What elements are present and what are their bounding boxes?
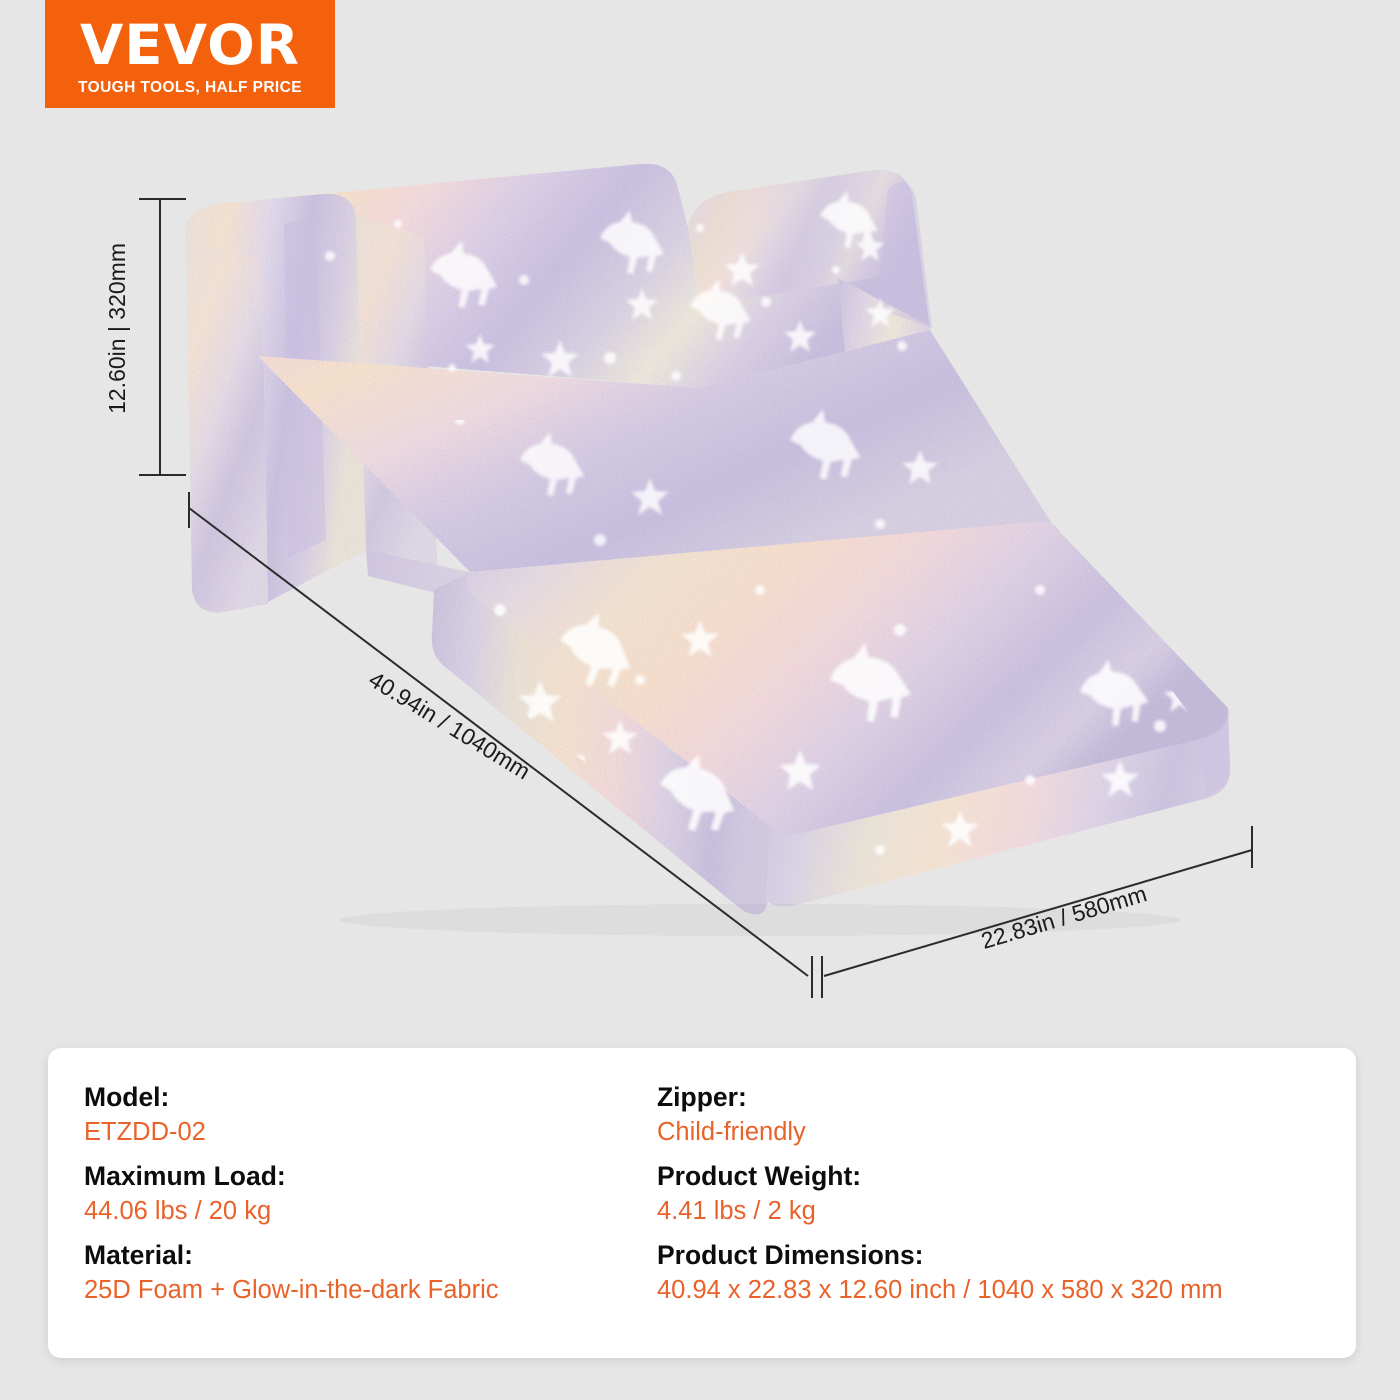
- spec-value-material: 25D Foam + Glow-in-the-dark Fabric: [84, 1278, 648, 1304]
- spec-label-zipper: Zipper:: [657, 1084, 1348, 1111]
- spec-value-model: ETZDD-02: [84, 1120, 648, 1146]
- spec-value-product-weight: 4.41 lbs / 2 kg: [657, 1199, 1348, 1225]
- brand-tagline: TOUGH TOOLS, HALF PRICE: [78, 79, 302, 97]
- product-spec-image: VEVOR TOUGH TOOLS, HALF PRICE: [0, 0, 1400, 1400]
- spec-column-left: Model: ETZDD-02 Maximum Load: 44.06 lbs …: [48, 1084, 648, 1328]
- brand-wordmark: VEVOR: [80, 19, 300, 71]
- spec-label-product-dimensions: Product Dimensions:: [657, 1242, 1348, 1269]
- spec-label-model: Model:: [84, 1084, 648, 1111]
- vevor-logo: VEVOR TOUGH TOOLS, HALF PRICE: [45, 0, 335, 108]
- spec-value-product-dimensions: 40.94 x 22.83 x 12.60 inch / 1040 x 580 …: [657, 1278, 1348, 1304]
- spec-label-maximum-load: Maximum Load:: [84, 1163, 648, 1190]
- sofa-illustration: [0, 120, 1400, 1020]
- product-image: [0, 120, 1400, 1020]
- spec-value-zipper: Child-friendly: [657, 1120, 1348, 1146]
- spec-value-maximum-load: 44.06 lbs / 20 kg: [84, 1199, 648, 1225]
- spec-column-right: Zipper: Child-friendly Product Weight: 4…: [648, 1084, 1348, 1328]
- spec-label-product-weight: Product Weight:: [657, 1163, 1348, 1190]
- spec-label-material: Material:: [84, 1242, 648, 1269]
- specification-card: Model: ETZDD-02 Maximum Load: 44.06 lbs …: [48, 1048, 1356, 1358]
